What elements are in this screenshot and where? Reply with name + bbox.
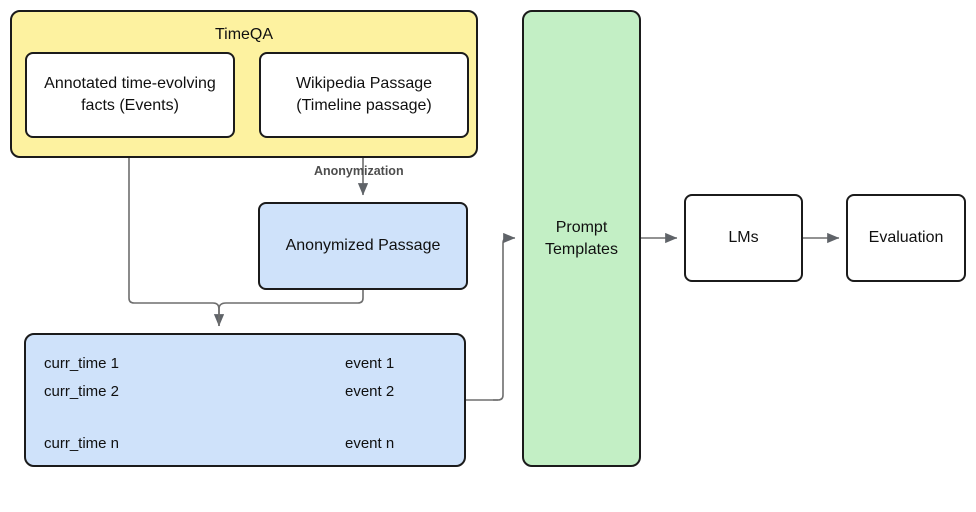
edge-facts-to-pairs: [129, 138, 219, 326]
event-1-label: event 1: [345, 355, 394, 372]
edge-anonymized-to-pairs: [219, 290, 363, 326]
anonymized-passage-node[interactable]: Anonymized Passage: [258, 202, 468, 290]
timeqa-group-title: TimeQA: [12, 24, 476, 46]
edge-anonymized-to-prompt: [493, 238, 515, 400]
evaluation-node[interactable]: Evaluation: [846, 194, 966, 282]
curr-time-2-label: curr_time 2: [44, 383, 119, 400]
wikipedia-passage-node[interactable]: Wikipedia Passage (Timeline passage): [259, 52, 469, 138]
curr-time-n-label: curr_time n: [44, 435, 119, 452]
prompt-templates-node[interactable]: Prompt Templates: [522, 10, 641, 467]
lms-node[interactable]: LMs: [684, 194, 803, 282]
annotated-facts-node[interactable]: Annotated time-evolving facts (Events): [25, 52, 235, 138]
diagram-canvas: TimeQA Annotated time-evolving facts (Ev…: [0, 0, 976, 512]
event-2-label: event 2: [345, 383, 394, 400]
curr-time-1-label: curr_time 1: [44, 355, 119, 372]
event-n-label: event n: [345, 435, 394, 452]
anonymization-edge-label: Anonymization: [314, 164, 404, 178]
